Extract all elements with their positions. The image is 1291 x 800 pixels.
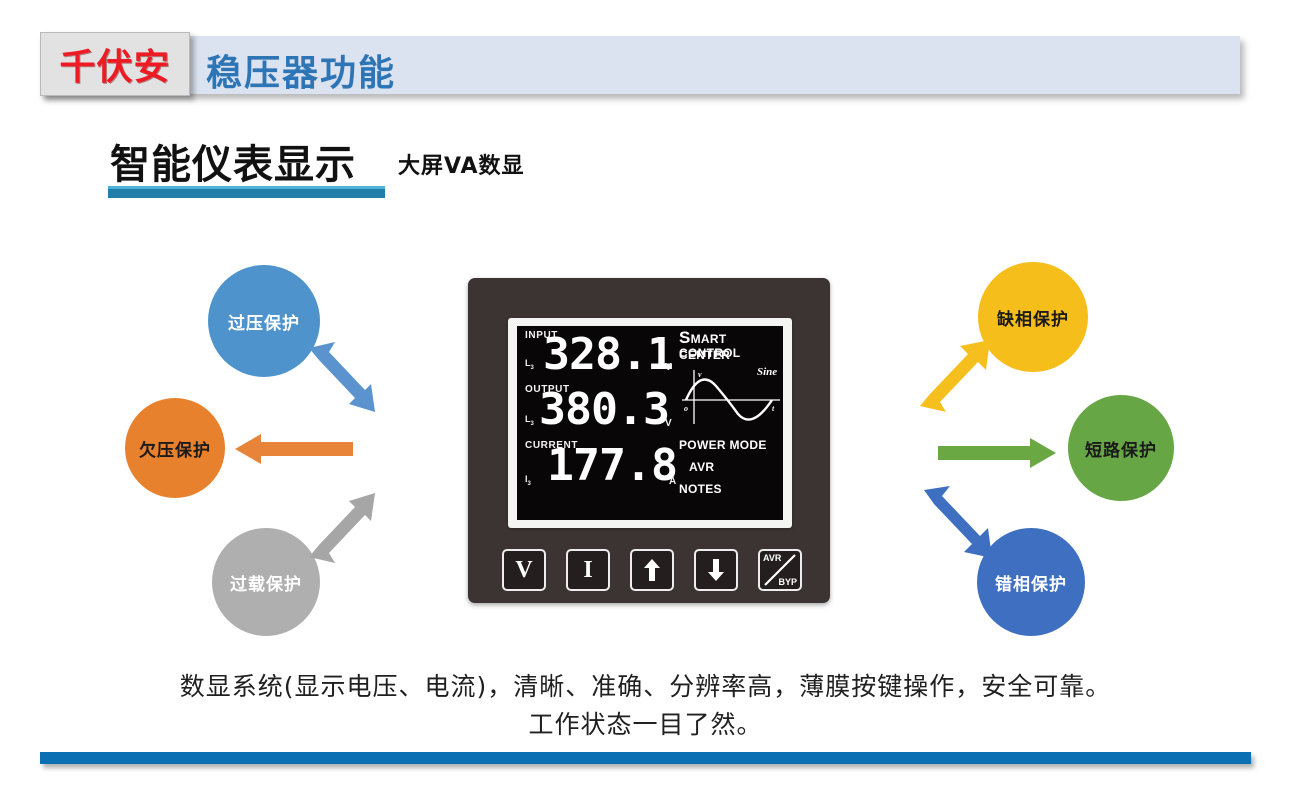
caption-line-2: 工作状态一目了然。 <box>0 706 1291 744</box>
circle-short-circuit-label: 短路保护 <box>1085 436 1157 461</box>
caption-line-1: 数显系统(显示电压、电流)，清晰、准确、分辨率高，薄膜按键操作，安全可靠。 <box>0 668 1291 706</box>
avr-key-label-top: AVR <box>763 553 781 563</box>
lcd-brand-line2: CENTER <box>679 348 730 362</box>
circle-undervoltage-label: 欠压保护 <box>139 436 211 461</box>
lcd-value-current: 177.8 <box>547 440 677 491</box>
section-heading: 智能仪表显示 <box>110 132 356 190</box>
arrow-down-left-gray-icon <box>305 487 380 567</box>
meter-keypad: V I AVR BYP <box>502 549 802 591</box>
page-title: 稳压器功能 <box>206 44 396 96</box>
lcd-power-mode-label: POWER MODE <box>679 438 767 452</box>
circle-phase-error-label: 错相保护 <box>995 570 1067 595</box>
lcd-phase-current: I3 <box>525 474 531 487</box>
lcd-unit-output: V <box>665 418 672 429</box>
arrow-down-right-blue-icon <box>920 484 1000 564</box>
arrow-left-orange-icon <box>235 432 355 466</box>
section-subheading: 大屏VA数显 <box>398 148 525 180</box>
svg-text:o: o <box>684 404 688 413</box>
lcd-phase-input: L3 <box>525 358 534 371</box>
footer-bar <box>40 752 1251 764</box>
lcd-notes-label: NOTES <box>679 482 722 496</box>
lcd-phase-output: L3 <box>525 414 534 427</box>
circle-undervoltage-protection: 欠压保护 <box>125 398 225 498</box>
svg-text:v: v <box>698 370 702 379</box>
lcd-bezel: INPUT L3 328.1 V OUTPUT L3 380.3 V CURRE… <box>508 318 792 528</box>
arrow-right-green-icon <box>938 436 1056 470</box>
lcd-screen: INPUT L3 328.1 V OUTPUT L3 380.3 V CURRE… <box>517 326 783 520</box>
circle-phase-loss-label: 缺相保护 <box>997 305 1069 330</box>
brand-logo-text: 千伏安 <box>59 38 170 90</box>
voltage-key-button[interactable]: V <box>502 549 546 591</box>
section-underline <box>108 186 385 198</box>
svg-text:t: t <box>772 404 775 413</box>
circle-overload-label: 过载保护 <box>230 570 302 595</box>
current-key-button[interactable]: I <box>566 549 610 591</box>
lcd-brand-initial: S <box>679 328 691 347</box>
lcd-wave-legend: Sine <box>757 366 777 378</box>
circle-overload-protection: 过载保护 <box>212 528 320 636</box>
arrow-up-right-yellow-icon <box>918 336 996 418</box>
up-key-button[interactable] <box>630 549 674 591</box>
lcd-value-input: 328.1 <box>543 329 673 380</box>
lcd-avr-status: AVR <box>689 460 714 474</box>
lcd-unit-current: A <box>669 476 676 487</box>
voltage-key-label: V <box>515 557 532 584</box>
current-key-label: I <box>583 557 592 584</box>
caption-block: 数显系统(显示电压、电流)，清晰、准确、分辨率高，薄膜按键操作，安全可靠。 工作… <box>0 668 1291 744</box>
avr-byp-key-button[interactable]: AVR BYP <box>758 549 802 591</box>
circle-overvoltage-label: 过压保护 <box>228 309 300 334</box>
arrow-up-icon <box>644 559 660 581</box>
smart-control-meter: INPUT L3 328.1 V OUTPUT L3 380.3 V CURRE… <box>468 278 830 603</box>
circle-short-circuit-protection: 短路保护 <box>1068 395 1174 501</box>
brand-logo-box: 千伏安 <box>40 32 190 96</box>
down-key-button[interactable] <box>694 549 738 591</box>
lcd-value-output: 380.3 <box>539 384 669 435</box>
arrow-down-icon <box>708 559 724 581</box>
circle-overvoltage-protection: 过压保护 <box>208 265 320 377</box>
arrow-up-left-blue-icon <box>305 338 380 418</box>
avr-key-label-bottom: BYP <box>778 577 797 587</box>
lcd-unit-input: V <box>665 362 672 373</box>
